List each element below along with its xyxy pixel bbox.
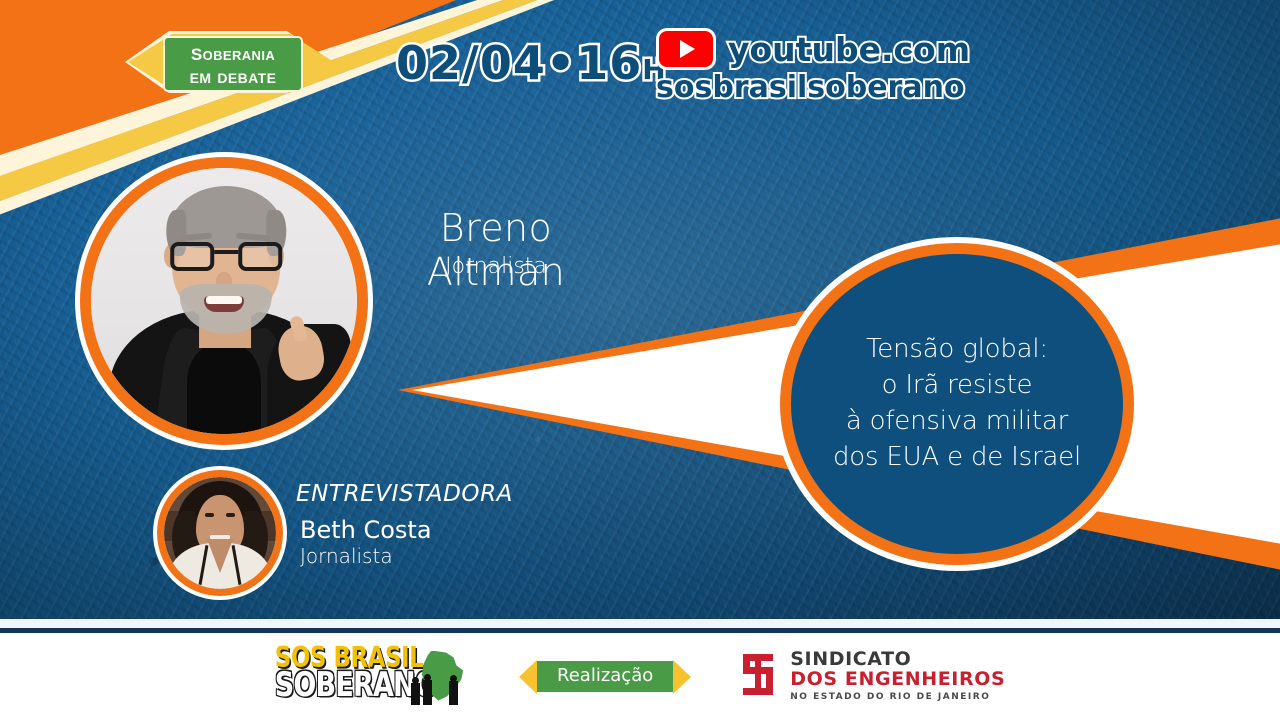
youtube-channel[interactable]: sosbrasilsoberano [656,70,970,105]
logo-line-2: em Debate [190,67,277,87]
arrow-right-icon [673,660,691,694]
guest-avatar-inner [91,168,357,434]
arrow-left-icon [519,660,537,694]
sindicato-mark-icon [737,652,779,702]
program-logo: Soberania em Debate [128,22,334,102]
logo-green-plaque: Soberania em Debate [163,36,303,92]
datetime-separator: • [546,36,576,90]
sindicato-line-1: SINDICATO [790,650,1005,670]
footer-bar: SOS BRASIL SOBERANO Realização SINDICATO [0,633,1280,720]
guest-photo [91,168,357,434]
footer-divider-white [0,619,1280,628]
people-figure-icon [449,681,458,705]
sindicato-line-3: NO ESTADO DO RIO DE JANEIRO [790,693,1005,702]
topic-circle: Tensão global: o Irã resiste à ofensiva … [791,254,1123,554]
guest-avatar [80,157,368,445]
guest-shirt [187,344,261,434]
host-name: Beth Costa [300,516,432,544]
host-avatar-inner [164,477,276,589]
youtube-row: youtube.com [656,28,970,70]
youtube-block[interactable]: youtube.com sosbrasilsoberano [656,28,970,105]
host-label: ENTREVISTADORA [296,481,513,507]
guest-mouth [204,296,244,312]
host-avatar [157,470,283,596]
guest-name: Breno Altman [376,206,616,294]
sindicato-line-2: DOS ENGENHEIROS [790,670,1005,690]
guest-glasses-bridge [214,250,238,254]
realizacao-badge: Realização [519,660,691,694]
play-triangle-icon [680,40,695,58]
guest-teeth [206,296,242,304]
host-photo [164,477,276,589]
event-date: 02/04 [396,36,546,90]
sindicato-text: SINDICATO DOS ENGENHEIROS NO ESTADO DO R… [790,650,1005,702]
guest-lens-left [170,242,214,271]
guest-role: Jornalista [376,254,616,279]
guest-glasses [170,242,282,272]
topic-text: Tensão global: o Irã resiste à ofensiva … [833,332,1081,476]
logo-line-1: Soberania [191,41,275,65]
guest-lens-right [238,242,282,271]
host-role: Jornalista [300,544,393,568]
people-figure-icon [423,680,432,705]
host-eye-right [226,513,235,517]
event-time: 16 [576,36,642,90]
sos-brasil-soberano-logo: SOS BRASIL SOBERANO [275,649,473,705]
youtube-icon[interactable] [656,28,716,70]
realizacao-label: Realização [537,661,673,692]
people-figure-icon [411,683,420,705]
event-banner: Soberania em Debate 02/04•16H youtube.co… [0,0,1280,720]
youtube-domain[interactable]: youtube.com [728,30,970,69]
event-datetime: 02/04•16H [396,36,667,90]
brazil-map-icon [409,649,473,705]
host-eye-left [205,513,214,517]
sindicato-engenheiros-logo: SINDICATO DOS ENGENHEIROS NO ESTADO DO R… [737,650,1005,702]
